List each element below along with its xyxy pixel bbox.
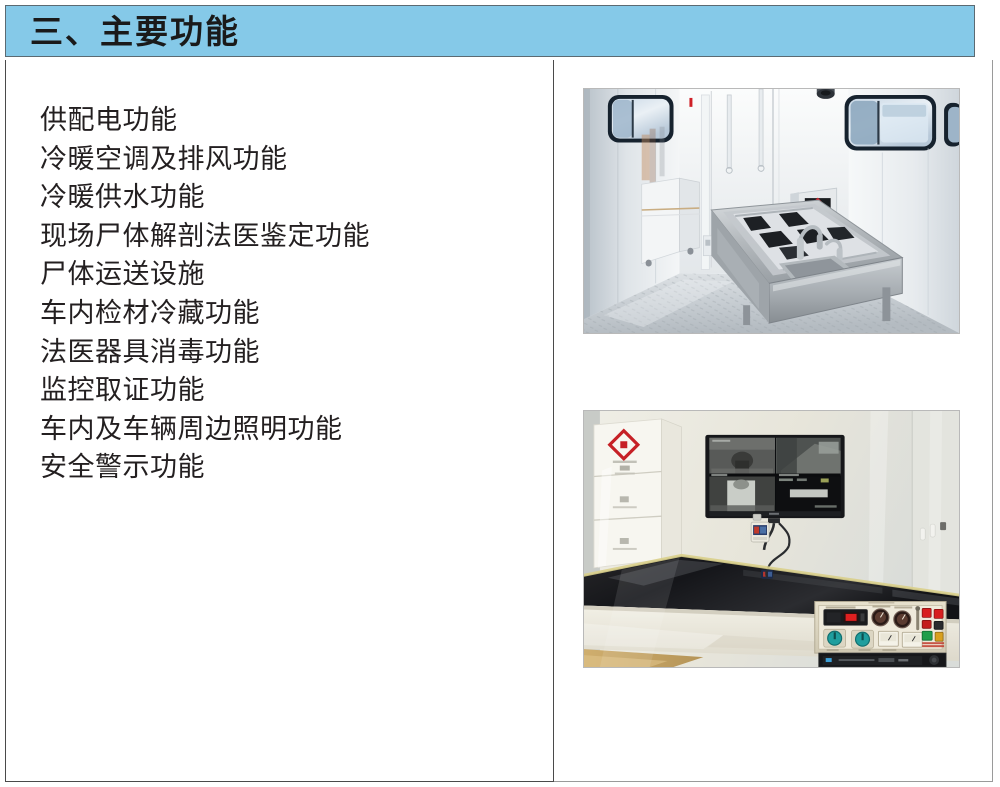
section-banner: 三、主要功能 [5, 5, 975, 57]
slide-root: 三、主要功能 供配电功能 冷暖空调及排风功能 冷暖供水功能 现场尸体解剖法医鉴定… [0, 0, 1000, 787]
page-title: 三、主要功能 [30, 9, 240, 55]
white-cabinet-trolley [642, 178, 700, 266]
list-item: 车内及车辆周边照明功能 [40, 410, 520, 449]
list-item: 法医器具消毒功能 [40, 333, 520, 372]
photo-2-artwork [584, 411, 959, 667]
list-item: 监控取证功能 [40, 371, 520, 410]
ceiling-dome-camera [817, 89, 835, 99]
black-rack-unit [819, 653, 946, 667]
list-item: 尸体运送设施 [40, 255, 520, 294]
digital-temperature-readout [824, 606, 868, 625]
list-item: 冷暖空调及排风功能 [40, 140, 520, 179]
list-item: 现场尸体解剖法医鉴定功能 [40, 217, 520, 256]
feature-list: 供配电功能 冷暖空调及排风功能 冷暖供水功能 现场尸体解剖法医鉴定功能 尸体运送… [40, 101, 520, 487]
photo-1-artwork [584, 89, 959, 333]
white-storage-cabinet [594, 419, 682, 568]
power-control-panel [815, 602, 946, 654]
list-item: 车内检材冷藏功能 [40, 294, 520, 333]
monitoring-and-control-station-photo [583, 410, 960, 668]
vehicle-interior-autopsy-table-photo [583, 88, 960, 334]
feature-list-panel: 供配电功能 冷暖空调及排风功能 冷暖供水功能 现场尸体解剖法医鉴定功能 尸体运送… [5, 60, 554, 782]
list-item: 供配电功能 [40, 101, 520, 140]
list-item: 安全警示功能 [40, 448, 520, 487]
photo-panel [554, 60, 993, 782]
list-item: 冷暖供水功能 [40, 178, 520, 217]
